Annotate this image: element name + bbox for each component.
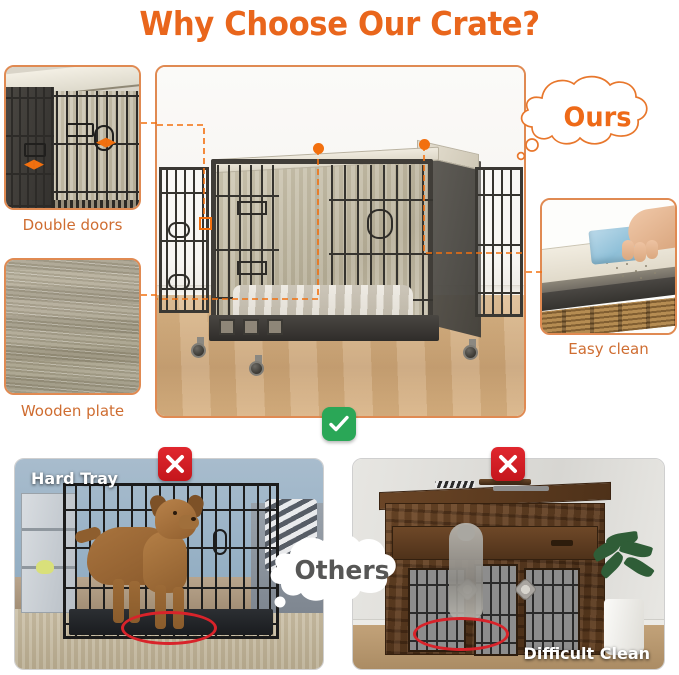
caption-wooden-plate: Wooden plate bbox=[4, 402, 141, 420]
x-badge-right bbox=[491, 447, 525, 481]
crate-right-open-door bbox=[475, 167, 523, 317]
caster-wheel-front bbox=[249, 361, 264, 376]
left-door-latch-loop bbox=[168, 222, 190, 238]
wood-grain-photo bbox=[6, 260, 139, 393]
crate-right-side-panel bbox=[429, 149, 481, 338]
callout-marker-double-doors bbox=[199, 217, 212, 230]
front-door-latch-2 bbox=[237, 261, 267, 275]
problem-highlight-ellipse-right bbox=[413, 617, 509, 651]
right-door-latch bbox=[66, 123, 94, 137]
feature-card-wooden-plate bbox=[4, 258, 141, 395]
feature-card-double-doors: ◀▶ ◀▶ bbox=[4, 65, 141, 210]
page-title: Why Choose Our Crate? bbox=[24, 4, 655, 43]
check-icon bbox=[328, 413, 350, 435]
dog-chest bbox=[143, 531, 187, 593]
background-potted-plant bbox=[592, 533, 658, 655]
label-difficult-clean: Difficult Clean bbox=[524, 644, 650, 663]
finger-3 bbox=[646, 240, 658, 259]
dog-in-crate bbox=[87, 493, 205, 629]
cross-icon bbox=[497, 453, 519, 475]
others-thought-bubble: Others bbox=[266, 528, 418, 612]
dog-behind-bars bbox=[449, 523, 483, 619]
verdict-check-badge bbox=[322, 407, 356, 441]
left-door-latch bbox=[24, 143, 46, 157]
rustic-crate-right-mesh-door bbox=[524, 568, 580, 652]
cross-icon bbox=[164, 453, 186, 475]
wire-crate-latch bbox=[213, 529, 227, 555]
dog-nose bbox=[191, 517, 196, 521]
hero-card-our-crate bbox=[155, 65, 526, 418]
crate-left-open-door bbox=[159, 167, 209, 313]
double-doors-photo: ◀▶ ◀▶ bbox=[6, 67, 139, 208]
front-door-latch bbox=[237, 201, 267, 215]
rustic-crate-drawer bbox=[392, 526, 598, 560]
finger-2 bbox=[634, 242, 646, 262]
finger-1 bbox=[622, 240, 634, 260]
caption-easy-clean: Easy clean bbox=[540, 340, 677, 358]
ours-thought-bubble: Ours bbox=[516, 68, 679, 164]
infographic-page: Why Choose Our Crate? bbox=[0, 0, 679, 675]
label-hard-tray: Hard Tray bbox=[31, 469, 118, 488]
left-door-latch-loop-2 bbox=[168, 274, 190, 290]
callout-marker-top bbox=[313, 143, 324, 154]
caption-double-doors: Double doors bbox=[4, 216, 141, 234]
shelf-plant bbox=[36, 560, 54, 574]
right-door-lock-icon bbox=[367, 209, 393, 239]
crate-bottom-rail bbox=[52, 200, 139, 208]
dog-snout bbox=[179, 515, 199, 529]
dog2-head bbox=[457, 525, 475, 541]
easy-clean-photo bbox=[542, 200, 675, 333]
dirt-specks bbox=[602, 260, 664, 282]
dog-eye bbox=[173, 511, 177, 515]
caster-wheel-right bbox=[463, 345, 478, 360]
crate-base-rail bbox=[209, 315, 439, 341]
x-badge-left bbox=[158, 447, 192, 481]
callout-marker-easy-clean bbox=[419, 139, 430, 150]
right-door-arrow-icon: ◀▶ bbox=[96, 135, 116, 148]
dog-leg-back-left bbox=[113, 579, 124, 623]
caster-wheel-left bbox=[191, 343, 206, 358]
ours-label: Ours bbox=[520, 102, 675, 133]
left-door-arrow-icon: ◀▶ bbox=[24, 157, 44, 170]
drawer-handle bbox=[551, 540, 573, 546]
feature-card-easy-clean bbox=[540, 198, 677, 335]
others-label: Others bbox=[269, 556, 415, 586]
problem-highlight-ellipse-left bbox=[121, 611, 217, 645]
